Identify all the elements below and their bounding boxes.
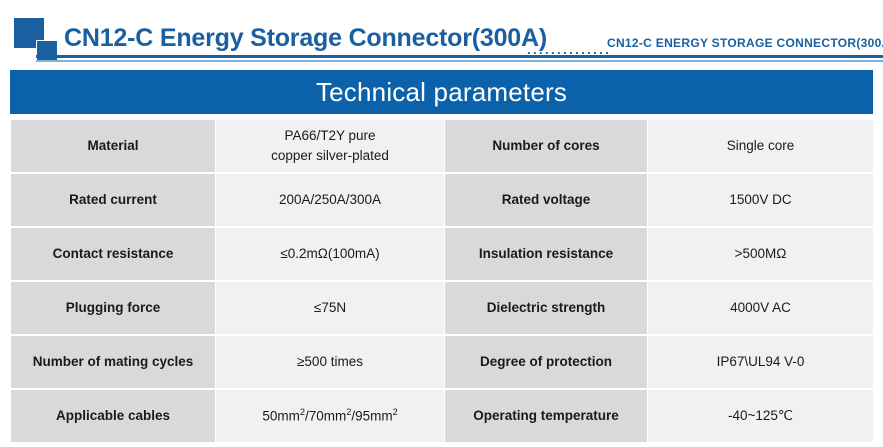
page-subtitle: CN12-C ENERGY STORAGE CONNECTOR(300A) xyxy=(607,36,883,50)
table-row: Plugging force ≤75N Dielectric strength … xyxy=(11,282,873,334)
spec-label: Insulation resistance xyxy=(445,228,647,280)
table-row: Material PA66/T2Y pure copper silver-pla… xyxy=(11,120,873,172)
product-spec-page: CN12-C Energy Storage Connector(300A) ..… xyxy=(0,0,883,447)
spec-value-line1: PA66/T2Y pure xyxy=(284,128,375,143)
cable-sup-3: 2 xyxy=(393,407,398,417)
table-row: Contact resistance ≤0.2mΩ(100mA) Insulat… xyxy=(11,228,873,280)
table-row: Rated current 200A/250A/300A Rated volta… xyxy=(11,174,873,226)
table-row: Applicable cables 50mm2/70mm2/95mm2 Oper… xyxy=(11,390,873,442)
spec-label: Number of mating cycles xyxy=(11,336,215,388)
table-row: Number of mating cycles ≥500 times Degre… xyxy=(11,336,873,388)
spec-value: -40~125℃ xyxy=(648,390,873,442)
spec-label: Applicable cables xyxy=(11,390,215,442)
spec-label: Degree of protection xyxy=(445,336,647,388)
spec-label: Plugging force xyxy=(11,282,215,334)
spec-value: IP67\UL94 V-0 xyxy=(648,336,873,388)
spec-value: ≥500 times xyxy=(216,336,444,388)
spec-label: Dielectric strength xyxy=(445,282,647,334)
spec-label: Contact resistance xyxy=(11,228,215,280)
spec-label: Rated current xyxy=(11,174,215,226)
technical-parameters-table: Material PA66/T2Y pure copper silver-pla… xyxy=(10,118,874,444)
spec-value: 4000V AC xyxy=(648,282,873,334)
spec-value-line2: copper silver-plated xyxy=(271,148,389,163)
spec-label: Rated voltage xyxy=(445,174,647,226)
logo-square-small-icon xyxy=(36,40,58,62)
spec-value: 1500V DC xyxy=(648,174,873,226)
header-rule-light xyxy=(36,60,883,62)
page-header: CN12-C Energy Storage Connector(300A) ..… xyxy=(0,0,883,72)
spec-value: >500MΩ xyxy=(648,228,873,280)
spec-value: PA66/T2Y pure copper silver-plated xyxy=(216,120,444,172)
page-title: CN12-C Energy Storage Connector(300A) xyxy=(64,24,547,53)
cable-size-3: /95mm xyxy=(351,408,392,423)
section-banner-title: Technical parameters xyxy=(316,77,567,108)
spec-value: ≤75N xyxy=(216,282,444,334)
spec-label: Number of cores xyxy=(445,120,647,172)
header-rule-dark xyxy=(36,55,883,58)
cable-size-1: 50mm xyxy=(262,408,300,423)
section-banner: Technical parameters xyxy=(10,70,873,114)
spec-value: 50mm2/70mm2/95mm2 xyxy=(216,390,444,442)
cable-size-2: /70mm xyxy=(305,408,346,423)
spec-label: Operating temperature xyxy=(445,390,647,442)
spec-value: ≤0.2mΩ(100mA) xyxy=(216,228,444,280)
spec-value: 200A/250A/300A xyxy=(216,174,444,226)
spec-value: Single core xyxy=(648,120,873,172)
spec-label: Material xyxy=(11,120,215,172)
